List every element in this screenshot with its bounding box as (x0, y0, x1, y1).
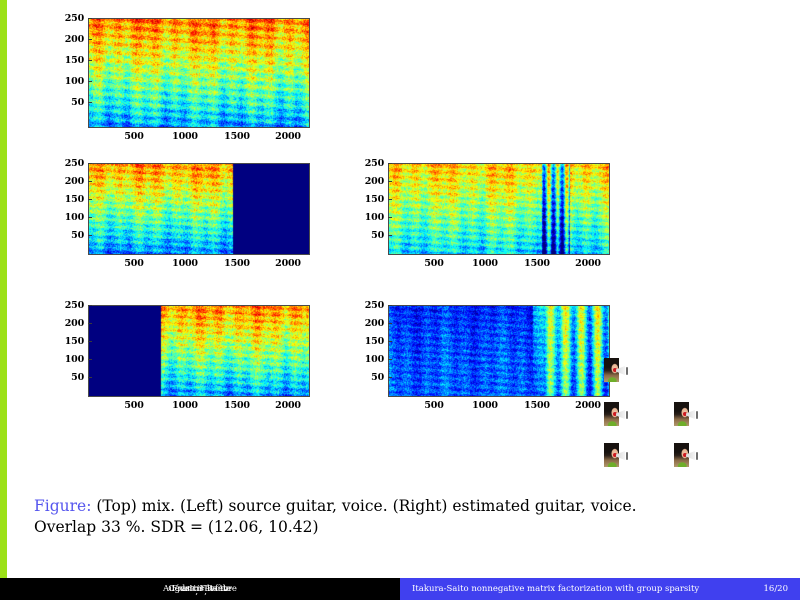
plot-source-voice-heatmap (89, 306, 310, 397)
figure-area: 250 200 150 100 50 500 1000 1500 2000 25… (0, 0, 800, 490)
ytick-label: 250 (58, 13, 84, 24)
ytick-label: 100 (358, 212, 384, 223)
mouth-marker (613, 453, 617, 457)
ytick-label: 250 (58, 158, 84, 169)
xtick-label: 1000 (468, 400, 502, 411)
ytick-label: 250 (358, 300, 384, 311)
ytick-label: 200 (58, 318, 84, 329)
ytick-label: 250 (358, 158, 384, 169)
figure-caption-line1: (Top) mix. (Left) source guitar, voice. … (91, 497, 636, 515)
sound-wave-icon (626, 452, 628, 460)
sound-icon-source-guitar[interactable] (604, 402, 628, 426)
ytick-mark (88, 60, 92, 61)
ytick-label: 150 (58, 194, 84, 205)
sound-icon-source-voice[interactable] (604, 443, 628, 467)
sound-icon-mix[interactable] (604, 358, 628, 382)
ytick-mark (388, 181, 392, 182)
ytick-label: 150 (58, 336, 84, 347)
ytick-mark (388, 305, 392, 306)
plot-estimated-voice-heatmap (389, 306, 610, 397)
plot-source-voice-axes (88, 305, 310, 397)
plot-estimated-guitar: 250 200 150 100 50 500 1000 1500 2000 (388, 163, 610, 255)
ytick-mark (88, 81, 92, 82)
ytick-label: 100 (58, 76, 84, 87)
ytick-mark (88, 217, 92, 218)
author-3-name: Cédric Févotte (0, 578, 400, 600)
ytick-label: 50 (58, 230, 84, 241)
figure-caption-label: Figure: (34, 497, 91, 515)
xtick-label: 500 (417, 400, 451, 411)
plot-source-guitar-axes (88, 163, 310, 255)
ytick-mark (388, 217, 392, 218)
plot-estimated-voice-axes (388, 305, 610, 397)
xtick-label: 1500 (520, 400, 554, 411)
xtick-label: 1500 (220, 131, 254, 142)
ytick-mark (88, 181, 92, 182)
footer-page-number: 16/20 (764, 578, 789, 600)
sound-wave-icon (696, 452, 698, 460)
ytick-label: 50 (358, 230, 384, 241)
plot-estimated-guitar-heatmap (389, 164, 610, 255)
ytick-mark (388, 199, 392, 200)
mouth-marker (683, 412, 687, 416)
ytick-label: 150 (358, 336, 384, 347)
ytick-mark (88, 199, 92, 200)
xtick-label: 2000 (271, 400, 305, 411)
sound-wave-icon (626, 411, 628, 419)
plot-mix-axes (88, 18, 310, 128)
xtick-label: 2000 (271, 258, 305, 269)
xtick-label: 1500 (520, 258, 554, 269)
footer-title-bar: Itakura-Saito nonnegative matrix factori… (400, 578, 800, 600)
footer-authors: Augustin Lefèvre1,2, Francis Bach1, Cédr… (0, 578, 400, 600)
ytick-mark (88, 359, 92, 360)
ytick-mark (388, 359, 392, 360)
plot-mix: 250 200 150 100 50 500 1000 1500 2000 (88, 18, 310, 128)
xtick-label: 1500 (220, 258, 254, 269)
xtick-label: 2000 (571, 400, 605, 411)
footer: Augustin Lefèvre1,2, Francis Bach1, Cédr… (0, 578, 800, 600)
ytick-mark (88, 163, 92, 164)
plot-source-guitar-heatmap (89, 164, 310, 255)
xtick-label: 500 (417, 258, 451, 269)
figure-caption-line2: Overlap 33 %. SDR = (12.06, 10.42) (34, 518, 319, 536)
ytick-label: 100 (358, 354, 384, 365)
ytick-mark (388, 163, 392, 164)
ytick-mark (388, 323, 392, 324)
ytick-label: 200 (358, 176, 384, 187)
xtick-label: 1000 (168, 131, 202, 142)
ytick-mark (88, 235, 92, 236)
ytick-mark (388, 341, 392, 342)
xtick-label: 2000 (571, 258, 605, 269)
xtick-label: 500 (117, 131, 151, 142)
ytick-label: 150 (358, 194, 384, 205)
ytick-mark (88, 39, 92, 40)
xtick-label: 500 (117, 258, 151, 269)
ytick-label: 50 (58, 372, 84, 383)
ytick-label: 100 (58, 354, 84, 365)
ytick-label: 150 (58, 55, 84, 66)
mouth-marker (613, 368, 617, 372)
plot-estimated-voice: 250 200 150 100 50 500 1000 1500 2000 (388, 305, 610, 397)
plot-mix-heatmap (89, 19, 310, 128)
mouth-marker (683, 453, 687, 457)
footer-authors-text: Augustin Lefèvre1,2, Francis Bach1, Cédr… (0, 578, 400, 603)
xtick-label: 1000 (468, 258, 502, 269)
ytick-label: 50 (58, 97, 84, 108)
ytick-mark (88, 18, 92, 19)
ytick-mark (388, 377, 392, 378)
ytick-label: 200 (358, 318, 384, 329)
xtick-label: 1500 (220, 400, 254, 411)
ytick-mark (388, 235, 392, 236)
ytick-label: 100 (58, 212, 84, 223)
ytick-mark (88, 323, 92, 324)
ytick-mark (88, 305, 92, 306)
xtick-label: 1000 (168, 258, 202, 269)
ytick-mark (88, 341, 92, 342)
plot-estimated-guitar-axes (388, 163, 610, 255)
mouth-marker (613, 412, 617, 416)
sound-wave-icon (626, 367, 628, 375)
slide: 250 200 150 100 50 500 1000 1500 2000 25… (0, 0, 800, 600)
sound-icon-estimated-voice[interactable] (674, 443, 698, 467)
xtick-label: 1000 (168, 400, 202, 411)
ytick-label: 200 (58, 34, 84, 45)
sound-icon-estimated-guitar[interactable] (674, 402, 698, 426)
plot-source-voice: 250 200 150 100 50 500 1000 1500 2000 (88, 305, 310, 397)
xtick-label: 2000 (271, 131, 305, 142)
ytick-label: 50 (358, 372, 384, 383)
ytick-mark (88, 102, 92, 103)
ytick-mark (88, 377, 92, 378)
xtick-label: 500 (117, 400, 151, 411)
ytick-label: 200 (58, 176, 84, 187)
figure-caption: Figure: (Top) mix. (Left) source guitar,… (34, 496, 734, 538)
ytick-label: 250 (58, 300, 84, 311)
sound-wave-icon (696, 411, 698, 419)
plot-source-guitar: 250 200 150 100 50 500 1000 1500 2000 (88, 163, 310, 255)
footer-presentation-title: Itakura-Saito nonnegative matrix factori… (412, 578, 699, 600)
